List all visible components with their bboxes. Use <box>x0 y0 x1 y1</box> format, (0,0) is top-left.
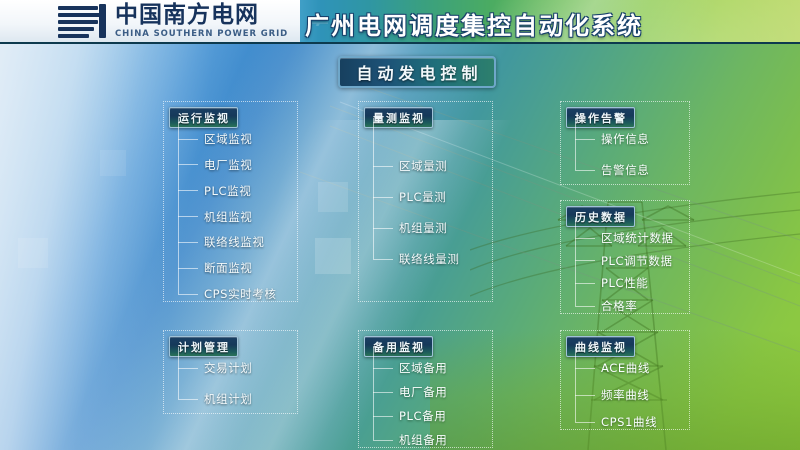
panel-curve-monitor: 曲线监视ACE曲线频率曲线CPS1曲线 <box>560 330 690 430</box>
group-header-label: 操作告警 <box>574 110 627 126</box>
tree-item[interactable]: PLC备用 <box>373 409 446 423</box>
tree-item[interactable]: 频率曲线 <box>575 388 649 402</box>
agc-main-screen: 中国南方电网 CHINA SOUTHERN POWER GRID 广州电网调度集… <box>0 0 800 450</box>
tree-item-label: PLC性能 <box>601 275 648 291</box>
southern-power-grid-logo-icon <box>58 4 106 38</box>
tree-item-label: 区域备用 <box>399 360 447 376</box>
tree-connector <box>373 197 393 198</box>
group-tree: 区域统计数据PLC调节数据PLC性能合格率 <box>575 227 687 311</box>
group-header-label: 曲线监视 <box>574 339 627 355</box>
tree-item-label: 交易计划 <box>204 360 252 376</box>
tree-item[interactable]: 合格率 <box>575 299 637 313</box>
tree-item-label: 联络线监视 <box>204 234 265 250</box>
page-title[interactable]: 自动发电控制 <box>338 56 496 88</box>
tree-item[interactable]: 区域备用 <box>373 361 447 375</box>
tree-connector <box>178 368 198 369</box>
tree-connector <box>373 368 393 369</box>
tree-item-label: 电厂备用 <box>399 384 447 400</box>
tree-item[interactable]: 告警信息 <box>575 163 649 177</box>
tree-item-label: 断面监视 <box>204 260 252 276</box>
group-header-standby[interactable]: 备用监视 <box>364 336 433 357</box>
tree-item-label: 电厂监视 <box>204 157 252 173</box>
panel-plan-management: 计划管理交易计划机组计划 <box>163 330 298 414</box>
brand-name-cn: 中国南方电网 <box>115 4 288 27</box>
tree-connector <box>178 268 198 269</box>
tree-item[interactable]: 机组量测 <box>373 221 447 235</box>
tree-connector <box>575 170 595 171</box>
tree-item-label: PLC调节数据 <box>601 253 673 269</box>
tree-connector <box>373 392 393 393</box>
tree-item[interactable]: 机组备用 <box>373 433 447 447</box>
tree-item[interactable]: 断面监视 <box>178 261 252 275</box>
tree-item-label: 机组备用 <box>399 432 447 448</box>
group-tree: 操作信息告警信息 <box>575 128 687 182</box>
tree-item[interactable]: 联络线量测 <box>373 252 460 266</box>
tree-item-label: 联络线量测 <box>399 251 460 267</box>
tree-connector <box>575 395 595 396</box>
group-header-label: 计划管理 <box>177 339 230 355</box>
tree-item-label: 告警信息 <box>601 162 649 178</box>
tree-connector <box>373 228 393 229</box>
panel-standby-monitor: 备用监视区域备用电厂备用PLC备用机组备用 <box>358 330 493 448</box>
brand-logo: 中国南方电网 CHINA SOUTHERN POWER GRID <box>58 4 288 39</box>
tree-connector <box>178 399 198 400</box>
tree-item-label: PLC监视 <box>204 183 251 199</box>
tree-connector <box>575 260 595 261</box>
tree-item[interactable]: CPS实时考核 <box>178 287 276 301</box>
tree-rail <box>575 347 576 422</box>
tree-item-label: 机组计划 <box>204 391 252 407</box>
tree-item-label: 区域监视 <box>204 131 252 147</box>
group-header-meas[interactable]: 量测监视 <box>364 107 433 128</box>
background-light-beam-secondary <box>0 120 640 450</box>
tree-item[interactable]: 电厂备用 <box>373 385 447 399</box>
group-header-hist[interactable]: 历史数据 <box>566 206 635 227</box>
tree-connector <box>373 416 393 417</box>
tree-connector <box>575 306 595 307</box>
page-title-label: 自动发电控制 <box>351 60 482 84</box>
panel-run-monitor: 运行监视区域监视电厂监视PLC监视机组监视联络线监视断面监视CPS实时考核 <box>163 101 298 302</box>
tree-item-label: PLC备用 <box>399 408 446 424</box>
tree-item[interactable]: PLC监视 <box>178 184 251 198</box>
tree-connector <box>373 166 393 167</box>
tree-connector <box>575 422 595 423</box>
group-header-label: 量测监视 <box>372 110 425 126</box>
tree-item-label: PLC量测 <box>399 189 446 205</box>
tree-connector <box>178 139 198 140</box>
panel-measurement-monitor: 量测监视区域量测PLC量测机组量测联络线量测 <box>358 101 493 302</box>
tree-connector <box>575 238 595 239</box>
panel-history-data: 历史数据区域统计数据PLC调节数据PLC性能合格率 <box>560 200 690 314</box>
tree-item-label: ACE曲线 <box>601 360 650 376</box>
group-tree: 区域监视电厂监视PLC监视机组监视联络线监视断面监视CPS实时考核 <box>178 128 295 299</box>
tree-item-label: 机组量测 <box>399 220 447 236</box>
group-tree: 区域备用电厂备用PLC备用机组备用 <box>373 357 490 445</box>
tree-connector <box>575 283 595 284</box>
tree-item-label: 操作信息 <box>601 131 649 147</box>
tree-item-label: CPS1曲线 <box>601 414 657 430</box>
tree-item-label: 频率曲线 <box>601 387 649 403</box>
tree-connector <box>178 164 198 165</box>
decorative-square <box>315 238 351 274</box>
tree-connector <box>178 294 198 295</box>
tree-item[interactable]: PLC调节数据 <box>575 254 673 268</box>
tree-item-label: CPS实时考核 <box>204 286 276 302</box>
brand-text: 中国南方电网 CHINA SOUTHERN POWER GRID <box>115 4 288 39</box>
tree-item[interactable]: 操作信息 <box>575 132 649 146</box>
tree-connector <box>575 368 595 369</box>
tree-rail <box>373 118 374 259</box>
tree-connector <box>575 139 595 140</box>
tree-connector <box>178 190 198 191</box>
tree-item[interactable]: PLC性能 <box>575 276 648 290</box>
decorative-square <box>100 150 126 176</box>
tree-item-label: 机组监视 <box>204 209 252 225</box>
tree-item-label: 区域统计数据 <box>601 230 674 246</box>
tree-item[interactable]: ACE曲线 <box>575 361 650 375</box>
tree-item[interactable]: 区域监视 <box>178 132 252 146</box>
tree-item-label: 区域量测 <box>399 158 447 174</box>
tree-item[interactable]: 电厂监视 <box>178 158 252 172</box>
group-header-alarm[interactable]: 操作告警 <box>566 107 635 128</box>
group-header-plan[interactable]: 计划管理 <box>169 336 238 357</box>
decorative-square <box>18 238 48 268</box>
tree-item[interactable]: PLC量测 <box>373 190 446 204</box>
tree-item[interactable]: 区域量测 <box>373 159 447 173</box>
group-tree: 交易计划机组计划 <box>178 357 295 411</box>
tree-item[interactable]: 机组计划 <box>178 392 252 406</box>
group-header-label: 备用监视 <box>372 339 425 355</box>
tree-item[interactable]: 交易计划 <box>178 361 252 375</box>
tree-item[interactable]: 机组监视 <box>178 210 252 224</box>
tree-item[interactable]: CPS1曲线 <box>575 415 657 429</box>
tree-item-label: 合格率 <box>601 298 637 314</box>
group-tree: ACE曲线频率曲线CPS1曲线 <box>575 357 687 427</box>
tree-connector <box>373 440 393 441</box>
brand-name-en: CHINA SOUTHERN POWER GRID <box>115 30 288 39</box>
tree-connector <box>178 216 198 217</box>
app-header: 中国南方电网 CHINA SOUTHERN POWER GRID 广州电网调度集… <box>0 0 800 44</box>
group-header-curve[interactable]: 曲线监视 <box>566 336 635 357</box>
tree-connector <box>373 259 393 260</box>
panel-operation-alarm: 操作告警操作信息告警信息 <box>560 101 690 185</box>
tree-item[interactable]: 区域统计数据 <box>575 231 674 245</box>
group-header-label: 运行监视 <box>177 110 230 126</box>
tree-connector <box>178 242 198 243</box>
tree-item[interactable]: 联络线监视 <box>178 235 265 249</box>
decorative-square <box>318 182 348 212</box>
group-tree: 区域量测PLC量测机组量测联络线量测 <box>373 128 490 299</box>
app-title: 广州电网调度集控自动化系统 <box>305 6 643 41</box>
group-header-run[interactable]: 运行监视 <box>169 107 238 128</box>
group-header-label: 历史数据 <box>574 209 627 225</box>
